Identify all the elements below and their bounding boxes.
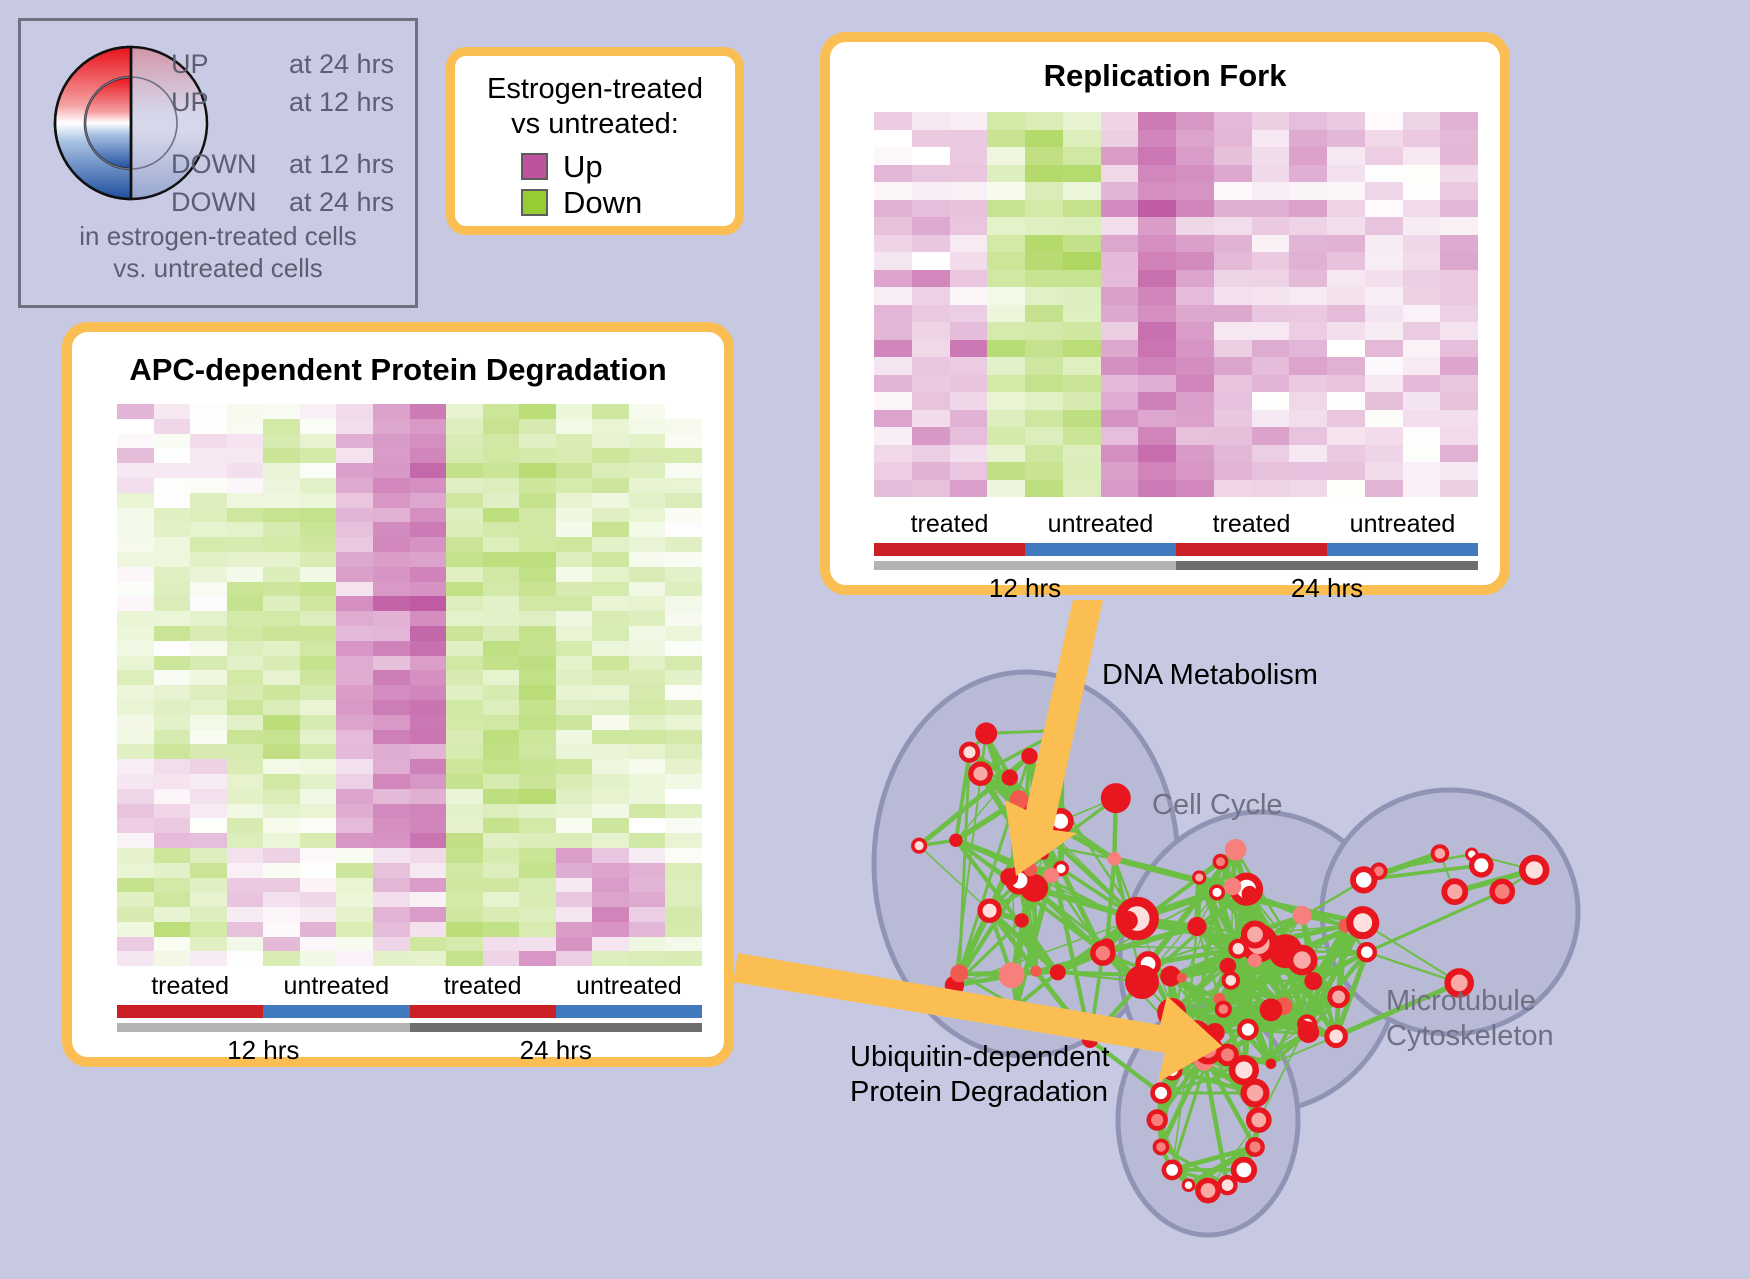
heatmap-cell xyxy=(300,818,337,833)
heatmap-cell xyxy=(1252,217,1290,235)
heatmap-cell xyxy=(336,892,373,907)
heatmap-cell xyxy=(336,656,373,671)
heatmap-cell xyxy=(987,480,1025,498)
heatmap-cell xyxy=(987,182,1025,200)
heatmap-cell xyxy=(592,404,629,419)
heatmap-cell xyxy=(1101,375,1139,393)
heatmap-cell xyxy=(117,804,154,819)
colorbar-row: UP at 12 hrs xyxy=(171,87,394,125)
heatmap-cell xyxy=(410,611,447,626)
heatmap-cell xyxy=(373,685,410,700)
heatmap-cell xyxy=(154,596,191,611)
heatmap-cell xyxy=(263,670,300,685)
heatmap-cell xyxy=(1252,270,1290,288)
heatmap-cell xyxy=(629,626,666,641)
heatmap-cell xyxy=(874,375,912,393)
heatmap-cell xyxy=(1063,427,1101,445)
heatmap-cell xyxy=(410,804,447,819)
heatmap-cell xyxy=(190,848,227,863)
heatmap-cell xyxy=(1365,357,1403,375)
heatmap-cell xyxy=(154,611,191,626)
heatmap-cell xyxy=(154,419,191,434)
heatmap-cell xyxy=(373,463,410,478)
heatmap-cell xyxy=(227,937,264,952)
heatmap-cell xyxy=(629,463,666,478)
heatmap-cell xyxy=(263,582,300,597)
network-node xyxy=(1125,965,1159,999)
heatmap-cell xyxy=(410,537,447,552)
heatmap-cell xyxy=(373,804,410,819)
heatmap-cell xyxy=(117,404,154,419)
heatmap-cell xyxy=(629,582,666,597)
timepoint-label: 24 hrs xyxy=(410,1035,703,1066)
heatmap-cell xyxy=(665,448,702,463)
heatmap-cell xyxy=(556,700,593,715)
heatmap-cell xyxy=(912,252,950,270)
heatmap-cell xyxy=(1365,217,1403,235)
heatmap-cell xyxy=(592,730,629,745)
heatmap-cell xyxy=(665,789,702,804)
heatmap-cell xyxy=(629,833,666,848)
heatmap-cell xyxy=(1403,165,1441,183)
heatmap-cell xyxy=(556,404,593,419)
heatmap-cell xyxy=(154,759,191,774)
network-node xyxy=(1298,1021,1320,1043)
heatmap-cell xyxy=(1214,217,1252,235)
heatmap-cell xyxy=(665,863,702,878)
heatmap-cell xyxy=(1063,340,1101,358)
heatmap-cell xyxy=(1025,322,1063,340)
heatmap-cell xyxy=(446,892,483,907)
heatmap-cell xyxy=(446,774,483,789)
heatmap-cell xyxy=(950,305,988,323)
heatmap-cell xyxy=(300,685,337,700)
heatmap-cell xyxy=(1214,305,1252,323)
heatmap-cell xyxy=(1365,340,1403,358)
heatmap-cell xyxy=(629,922,666,937)
network-node xyxy=(1180,1035,1191,1046)
heatmap-cell xyxy=(1289,392,1327,410)
heatmap-cell xyxy=(1327,392,1365,410)
heatmap-cell xyxy=(1176,340,1214,358)
heatmap-cell xyxy=(1176,252,1214,270)
heatmap-cell xyxy=(1101,305,1139,323)
heatmap-cell xyxy=(1063,217,1101,235)
heatmap-cell xyxy=(117,537,154,552)
heatmap-cell xyxy=(556,493,593,508)
heatmap-cell xyxy=(373,626,410,641)
heatmap-cell xyxy=(263,478,300,493)
heatmap-cell xyxy=(556,730,593,745)
heatmap-cell xyxy=(629,670,666,685)
heatmap-cell xyxy=(117,626,154,641)
heatmap-cell xyxy=(117,759,154,774)
heatmap-cell xyxy=(519,863,556,878)
heatmap-cell xyxy=(373,759,410,774)
heatmap-cell xyxy=(227,922,264,937)
heatmap-cell xyxy=(519,744,556,759)
network-node xyxy=(1230,941,1246,957)
heatmap-cell xyxy=(410,508,447,523)
heatmap-cell xyxy=(1138,462,1176,480)
network-node xyxy=(1108,852,1122,866)
legend-item-down: Down xyxy=(521,185,735,221)
heatmap-cell xyxy=(1101,217,1139,235)
heatmap-cell xyxy=(1403,112,1441,130)
network-node xyxy=(1248,954,1262,968)
heatmap-cell xyxy=(154,789,191,804)
heatmap-cell xyxy=(1176,112,1214,130)
heatmap-cell xyxy=(912,375,950,393)
heatmap-cell xyxy=(556,759,593,774)
colorbar-footer-line1: in estrogen-treated cells xyxy=(21,221,415,253)
heatmap-cell xyxy=(556,596,593,611)
network-node xyxy=(1242,886,1258,902)
heatmap-cell xyxy=(190,522,227,537)
network-node xyxy=(1160,1001,1183,1024)
heatmap-cell xyxy=(1176,270,1214,288)
network-node xyxy=(1260,998,1283,1021)
timepoint-segment xyxy=(117,1023,410,1032)
network-node xyxy=(1198,1180,1218,1200)
colorbar-row: DOWN at 24 hrs xyxy=(171,187,394,225)
heatmap-cell xyxy=(1289,445,1327,463)
heatmap-cell xyxy=(336,685,373,700)
heatmap-cell xyxy=(629,404,666,419)
heatmap-cell xyxy=(410,937,447,952)
heatmap-cell xyxy=(1063,235,1101,253)
heatmap-cell xyxy=(446,596,483,611)
heatmap-cell xyxy=(263,493,300,508)
network-node xyxy=(1330,988,1348,1006)
heatmap-cell xyxy=(1138,392,1176,410)
network-node xyxy=(1021,748,1037,764)
heatmap-cell xyxy=(154,670,191,685)
heatmap-cell xyxy=(446,922,483,937)
heatmap-cell xyxy=(592,626,629,641)
heatmap-cell xyxy=(1252,427,1290,445)
heatmap-cell xyxy=(1327,375,1365,393)
heatmap-cell xyxy=(592,700,629,715)
heatmap-cell xyxy=(263,552,300,567)
heatmap-cell xyxy=(665,833,702,848)
heatmap-cell xyxy=(874,357,912,375)
heatmap-cell xyxy=(154,567,191,582)
heatmap-cell xyxy=(950,200,988,218)
colorbar-row: UP at 24 hrs xyxy=(171,49,394,87)
heatmap-cell xyxy=(1327,200,1365,218)
heatmap-cell xyxy=(227,434,264,449)
heatmap-cell xyxy=(1063,445,1101,463)
heatmap-cell xyxy=(336,715,373,730)
heatmap-cell xyxy=(1063,480,1101,498)
heatmap-cell xyxy=(410,463,447,478)
heatmap-cell xyxy=(665,522,702,537)
heatmap-cell xyxy=(227,951,264,966)
heatmap-cell xyxy=(874,480,912,498)
heatmap-cell xyxy=(373,552,410,567)
heatmap-cell xyxy=(483,715,520,730)
heatmap-cell xyxy=(874,112,912,130)
heatmap-cell xyxy=(446,478,483,493)
network-node xyxy=(1154,1140,1167,1153)
heatmap-cell xyxy=(154,552,191,567)
heatmap-cell xyxy=(117,670,154,685)
heatmap-cell xyxy=(950,340,988,358)
heatmap-cell xyxy=(629,685,666,700)
heatmap-cell xyxy=(519,478,556,493)
heatmap-cell xyxy=(665,744,702,759)
heatmap-cell xyxy=(117,892,154,907)
heatmap-cell xyxy=(592,892,629,907)
heatmap-cell xyxy=(1440,305,1478,323)
direction-label: DOWN xyxy=(171,187,289,218)
heatmap-cell xyxy=(665,685,702,700)
network-node xyxy=(1217,1003,1230,1016)
heatmap-cell xyxy=(300,419,337,434)
network-node xyxy=(1164,1062,1180,1078)
heatmap-cell xyxy=(950,147,988,165)
heatmap-cell xyxy=(1025,357,1063,375)
heatmap-cell xyxy=(519,951,556,966)
heatmap-cell xyxy=(446,804,483,819)
column-labels: treated untreated treated untreated xyxy=(117,972,702,1001)
heatmap-cell xyxy=(665,567,702,582)
heatmap-cell xyxy=(1327,217,1365,235)
heatmap-cell xyxy=(227,744,264,759)
heatmap-cell xyxy=(300,656,337,671)
heatmap-cell xyxy=(987,165,1025,183)
heatmap-cell xyxy=(1101,480,1139,498)
heatmap-cell xyxy=(336,508,373,523)
heatmap-cell xyxy=(300,626,337,641)
heatmap-cell xyxy=(665,508,702,523)
heatmap-cell xyxy=(556,744,593,759)
network-node xyxy=(1009,1000,1022,1013)
heatmap-cell xyxy=(336,833,373,848)
heatmap-cell xyxy=(263,863,300,878)
heatmap-cell xyxy=(592,463,629,478)
heatmap-cell xyxy=(1327,322,1365,340)
heatmap-cell xyxy=(336,759,373,774)
heatmap-cell xyxy=(1101,322,1139,340)
heatmap-cell xyxy=(1063,112,1101,130)
heatmap-cell xyxy=(300,878,337,893)
heatmap-cell xyxy=(154,478,191,493)
heatmap-cell xyxy=(410,404,447,419)
heatmap-cell xyxy=(1289,357,1327,375)
heatmap-cell xyxy=(117,522,154,537)
heatmap-cell xyxy=(300,922,337,937)
heatmap-cell xyxy=(263,611,300,626)
network-node xyxy=(1224,973,1239,988)
heatmap-cell xyxy=(1403,445,1441,463)
heatmap-cell xyxy=(300,596,337,611)
heatmap-cell xyxy=(665,700,702,715)
heatmap-cell xyxy=(263,937,300,952)
heatmap-cell xyxy=(629,419,666,434)
heatmap-cell xyxy=(1440,182,1478,200)
heatmap-cell xyxy=(190,700,227,715)
heatmap-cell xyxy=(410,818,447,833)
heatmap-cell xyxy=(950,427,988,445)
heatmap-cell xyxy=(1214,462,1252,480)
heatmap-cell xyxy=(1063,287,1101,305)
heatmap-cell xyxy=(263,878,300,893)
heatmap-cell xyxy=(519,670,556,685)
heatmap-cell xyxy=(1440,462,1478,480)
heatmap-cell xyxy=(190,685,227,700)
heatmap-cell xyxy=(1327,305,1365,323)
heatmap-cell xyxy=(483,685,520,700)
heatmap-cell xyxy=(227,463,264,478)
heatmap-cell xyxy=(592,582,629,597)
heatmap-cell xyxy=(1214,147,1252,165)
heatmap-cell xyxy=(1403,270,1441,288)
heatmap-cell xyxy=(1063,270,1101,288)
heatmap-cell xyxy=(190,715,227,730)
treatment-segment xyxy=(1025,543,1176,556)
heatmap-cell xyxy=(629,508,666,523)
heatmap-cell xyxy=(519,611,556,626)
heatmap-cell xyxy=(592,878,629,893)
heatmap-cell xyxy=(227,848,264,863)
heatmap-cell xyxy=(154,508,191,523)
heatmap-cell xyxy=(556,863,593,878)
heatmap-cell xyxy=(1214,200,1252,218)
heatmap-cell xyxy=(1214,130,1252,148)
network-node xyxy=(1444,881,1465,902)
heatmap-cell xyxy=(1101,147,1139,165)
heatmap-cell xyxy=(336,774,373,789)
heatmap-cell xyxy=(190,759,227,774)
heatmap-cell xyxy=(519,404,556,419)
heatmap-cell xyxy=(373,419,410,434)
heatmap-cell xyxy=(1365,480,1403,498)
heatmap-cell xyxy=(556,670,593,685)
heatmap-cell xyxy=(950,445,988,463)
heatmap-cell xyxy=(263,715,300,730)
heatmap-cell xyxy=(1327,357,1365,375)
heatmap-cell xyxy=(373,863,410,878)
heatmap-cell xyxy=(1138,410,1176,428)
heatmap-cell xyxy=(987,235,1025,253)
heatmap-cell xyxy=(300,730,337,745)
legend-item-label: Up xyxy=(563,149,603,185)
heatmap-cell xyxy=(227,404,264,419)
heatmap-cell xyxy=(556,463,593,478)
heatmap-cell xyxy=(190,833,227,848)
heatmap-cell xyxy=(1138,270,1176,288)
network-node xyxy=(1327,1027,1346,1046)
heatmap-cell xyxy=(1289,147,1327,165)
heatmap-cell xyxy=(227,774,264,789)
heatmap-cell xyxy=(300,804,337,819)
heatmap-cell xyxy=(154,730,191,745)
heatmap-cell xyxy=(665,907,702,922)
heatmap-cell xyxy=(300,537,337,552)
heatmap-cell xyxy=(300,463,337,478)
heatmap-cell xyxy=(117,863,154,878)
heatmap-cell xyxy=(1289,217,1327,235)
colorbar-row: DOWN at 12 hrs xyxy=(171,149,394,187)
heatmap-cell xyxy=(1176,200,1214,218)
heatmap-cell xyxy=(1101,235,1139,253)
heatmap-cell xyxy=(1289,322,1327,340)
heatmap-cell xyxy=(1289,287,1327,305)
heatmap-cell xyxy=(519,774,556,789)
heatmap-cell xyxy=(1063,357,1101,375)
heatmap-cell xyxy=(519,641,556,656)
heatmap-cell xyxy=(1063,462,1101,480)
heatmap-cell xyxy=(227,493,264,508)
legend-item-label: Down xyxy=(563,185,642,221)
heatmap-cell xyxy=(1289,182,1327,200)
heatmap-cell xyxy=(1025,200,1063,218)
heatmap-cell xyxy=(519,537,556,552)
column-label: treated xyxy=(410,972,556,1001)
heatmap-cell xyxy=(190,907,227,922)
heatmap-cell xyxy=(1101,392,1139,410)
heatmap-cell xyxy=(336,463,373,478)
heatmap-cell xyxy=(373,892,410,907)
page-title: APC-dependent Protein Degradation xyxy=(72,352,724,388)
heatmap-cell xyxy=(665,404,702,419)
heatmap-cell xyxy=(483,774,520,789)
heatmap-cell xyxy=(227,685,264,700)
heatmap-cell xyxy=(410,892,447,907)
heatmap-cell xyxy=(1365,270,1403,288)
heatmap-cell xyxy=(629,478,666,493)
heatmap-cell xyxy=(227,833,264,848)
heatmap-cell xyxy=(1138,165,1176,183)
heatmap-cell xyxy=(410,789,447,804)
cluster-label-microtubule-cytoskeleton: Microtubule Cytoskeleton xyxy=(1386,984,1554,1054)
heatmap-cell xyxy=(410,493,447,508)
heatmap-cell xyxy=(987,217,1025,235)
heatmap-cell xyxy=(556,774,593,789)
expression-colorbar-legend: UP at 24 hrs UP at 12 hrs DOWN at 12 hrs… xyxy=(18,18,418,308)
heatmap-cell xyxy=(1365,235,1403,253)
heatmap-cell xyxy=(1403,322,1441,340)
heatmap-cell xyxy=(300,715,337,730)
heatmap-cell xyxy=(1214,287,1252,305)
heatmap-cell xyxy=(1440,445,1478,463)
heatmap-cell xyxy=(1440,410,1478,428)
heatmap-cell xyxy=(300,522,337,537)
heatmap-cell xyxy=(190,818,227,833)
heatmap-cell xyxy=(1176,130,1214,148)
heatmap-cell xyxy=(154,448,191,463)
heatmap-cell xyxy=(1101,445,1139,463)
heatmap-cell xyxy=(592,419,629,434)
heatmap-cell xyxy=(154,833,191,848)
heatmap-cell xyxy=(987,130,1025,148)
heatmap-cell xyxy=(1063,392,1101,410)
heatmap-cell xyxy=(592,759,629,774)
heatmap-cell xyxy=(1101,182,1139,200)
heatmap-cell xyxy=(1025,340,1063,358)
heatmap-cell xyxy=(190,641,227,656)
heatmap-cell xyxy=(1138,357,1176,375)
heatmap-cell xyxy=(629,700,666,715)
heatmap-cell xyxy=(373,522,410,537)
heatmap-cell xyxy=(1138,340,1176,358)
heatmap-cell xyxy=(154,685,191,700)
heatmap-cell xyxy=(117,818,154,833)
up-down-legend-card: Estrogen-treated vs untreated: Up Down xyxy=(446,47,744,235)
heatmap-cell xyxy=(446,552,483,567)
